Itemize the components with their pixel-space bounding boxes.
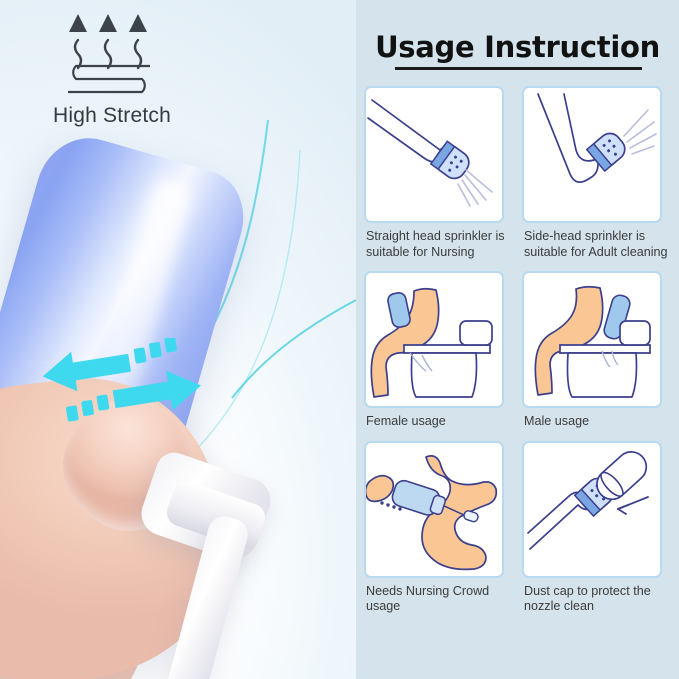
title-underline [395, 67, 642, 70]
instruction-card [364, 441, 504, 578]
instruction-item-dust-cap[interactable]: Dust cap to protect the nozzle clean [522, 441, 672, 615]
instruction-item-nursing-crowd-usage[interactable]: Needs Nursing Crowd usage [364, 441, 514, 615]
stretch-arrow-right [60, 368, 210, 426]
page-title: Usage Instruction [356, 30, 679, 64]
instruction-item-side-head-sprinkler[interactable]: Side-head sprinkler is suitable for Adul… [522, 86, 672, 260]
row-spacer [364, 260, 672, 271]
nursing-crowd-usage-icon [366, 443, 502, 576]
high-stretch-icon [56, 6, 166, 106]
instruction-card [522, 86, 662, 223]
instruction-caption: Female usage [366, 414, 512, 430]
instruction-caption: Male usage [524, 414, 670, 430]
female-toilet-usage-icon [366, 273, 502, 406]
usage-instruction-panel: Usage Instruction [356, 0, 679, 679]
product-infographic: High Stretch [0, 0, 679, 679]
dust-cap-icon [524, 443, 660, 576]
instruction-item-straight-head-sprinkler[interactable]: Straight head sprinkler is suitable for … [364, 86, 514, 260]
instruction-card [364, 86, 504, 223]
bottle-in-hand-illustration [0, 120, 356, 679]
instruction-item-male-usage[interactable]: Male usage [522, 271, 672, 430]
straight-nozzle-spray-icon [366, 88, 502, 221]
instruction-caption: Dust cap to protect the nozzle clean [524, 584, 670, 615]
side-nozzle-spray-icon [524, 88, 660, 221]
male-toilet-usage-icon [524, 273, 660, 406]
instruction-grid: Straight head sprinkler is suitable for … [364, 86, 672, 615]
instruction-card [522, 441, 662, 578]
instruction-caption: Needs Nursing Crowd usage [366, 584, 512, 615]
instruction-caption: Side-head sprinkler is suitable for Adul… [524, 229, 670, 260]
instruction-card [364, 271, 504, 408]
instruction-card [522, 271, 662, 408]
row-spacer [364, 430, 672, 441]
product-photo-panel: High Stretch [0, 0, 356, 679]
instruction-item-female-usage[interactable]: Female usage [364, 271, 514, 430]
instruction-caption: Straight head sprinkler is suitable for … [366, 229, 512, 260]
